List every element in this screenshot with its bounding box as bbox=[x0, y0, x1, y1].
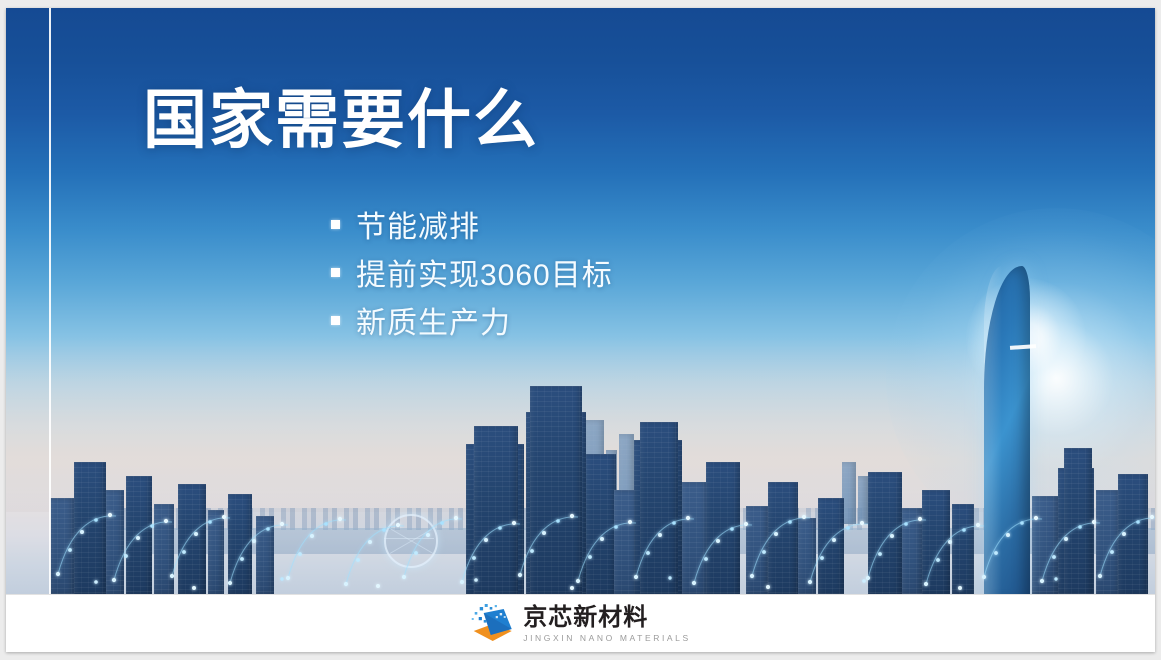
list-item: 新质生产力 bbox=[331, 296, 613, 344]
bullet-label: 提前实现3060目标 bbox=[356, 250, 613, 294]
slide-footer: 京芯新材料 JINGXIN NANO MATERIALS bbox=[6, 594, 1155, 652]
jingxin-logo-mark-icon bbox=[470, 604, 514, 644]
company-logo: 京芯新材料 JINGXIN NANO MATERIALS bbox=[470, 604, 691, 644]
slide-title: 国家需要什么 bbox=[143, 87, 539, 154]
logo-name-en: JINGXIN NANO MATERIALS bbox=[523, 633, 691, 643]
list-item: 提前实现3060目标 bbox=[331, 248, 613, 296]
square-bullet-icon bbox=[331, 316, 340, 325]
logo-name-cn: 京芯新材料 bbox=[523, 605, 691, 630]
square-bullet-icon bbox=[331, 268, 340, 277]
list-item: 节能减排 bbox=[331, 200, 613, 248]
light-dot-network-overlay bbox=[6, 464, 1155, 594]
vertical-accent-line bbox=[49, 8, 51, 594]
slide-background-image: 国家需要什么 节能减排 提前实现3060目标 新质生产力 bbox=[6, 8, 1155, 594]
logo-text-block: 京芯新材料 JINGXIN NANO MATERIALS bbox=[523, 605, 691, 642]
presentation-slide: 国家需要什么 节能减排 提前实现3060目标 新质生产力 bbox=[6, 8, 1155, 652]
bullet-label: 新质生产力 bbox=[356, 298, 511, 342]
square-bullet-icon bbox=[331, 220, 340, 229]
bullet-label: 节能减排 bbox=[356, 202, 480, 246]
slide-bullet-list: 节能减排 提前实现3060目标 新质生产力 bbox=[331, 200, 613, 344]
